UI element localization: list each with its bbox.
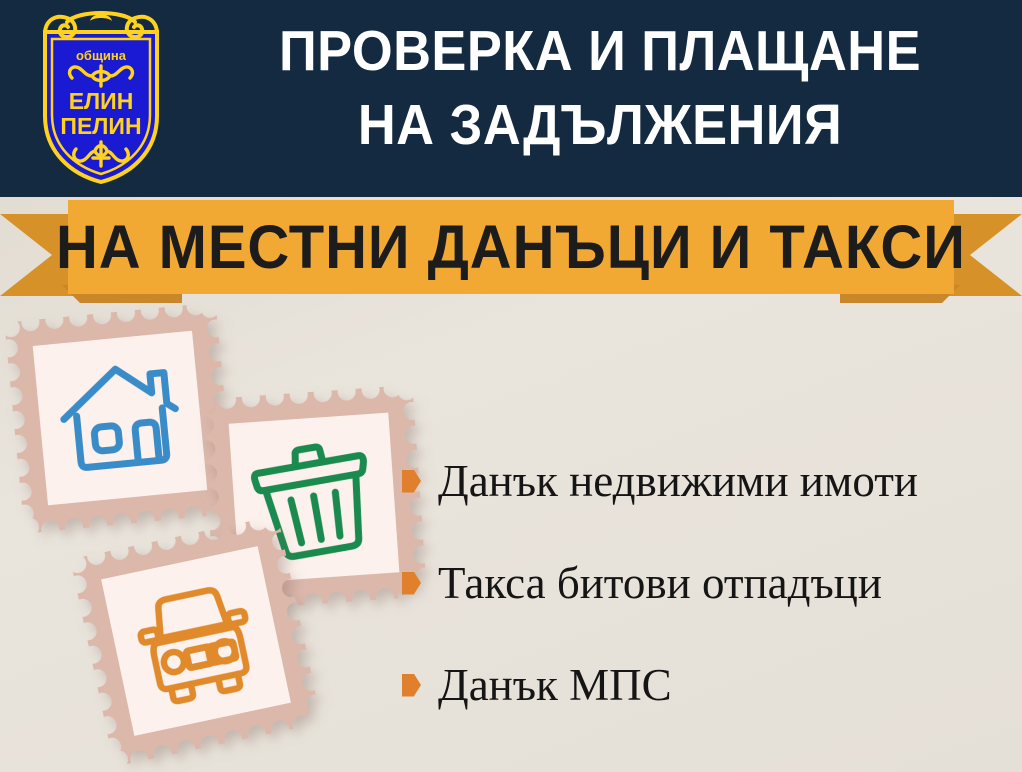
page-title-line-1: ПРОВЕРКА И ПЛАЩАНЕ [279, 19, 921, 83]
list-item-label: Такса битови отпадъци [438, 559, 882, 607]
arrow-bullet-icon [402, 674, 421, 697]
poster-canvas: община ЕЛИН ПЕЛИН [0, 0, 1022, 772]
arrow-bullet-icon [402, 470, 421, 493]
stamp-house [4, 302, 235, 533]
list-item[interactable]: Такса битови отпадъци [402, 532, 1012, 634]
list-item[interactable]: Данък недвижими имоти [402, 430, 1012, 532]
subtitle-ribbon: НА МЕСТНИ ДАНЪЦИ И ТАКСИ [0, 200, 1022, 310]
tax-types-list: Данък недвижими имоти Такса битови отпад… [402, 430, 1012, 736]
municipality-crest: община ЕЛИН ПЕЛИН [22, 8, 180, 190]
page-title: ПРОВЕРКА И ПЛАЩАНЕ НА ЗАДЪЛЖЕНИЯ [223, 14, 977, 162]
crest-subtitle: община [76, 48, 127, 63]
crest-name-line1: ЕЛИН [69, 88, 134, 114]
arrow-bullet-icon [402, 572, 421, 595]
page-title-line-2: НА ЗАДЪЛЖЕНИЯ [223, 88, 977, 162]
stamp-car [70, 515, 321, 766]
crest-name-line2: ПЕЛИН [60, 113, 141, 139]
list-item-label: Данък недвижими имоти [438, 457, 918, 505]
list-item[interactable]: Данък МПС [402, 634, 1012, 736]
header-bar: община ЕЛИН ПЕЛИН [0, 0, 1022, 197]
list-item-label: Данък МПС [438, 661, 672, 709]
ribbon-label: НА МЕСТНИ ДАНЪЦИ И ТАКСИ [56, 216, 966, 278]
ribbon-band: НА МЕСТНИ ДАНЪЦИ И ТАКСИ [68, 200, 954, 294]
